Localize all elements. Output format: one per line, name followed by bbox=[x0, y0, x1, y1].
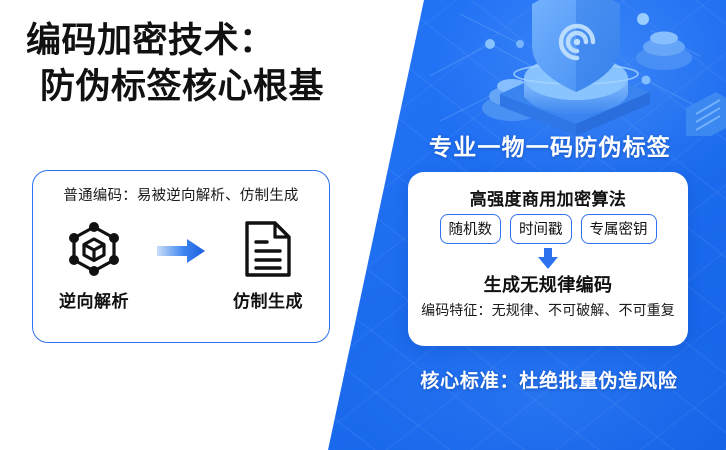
code-feature-line: 编码特征：无规律、不可破解、不可重复 bbox=[408, 300, 688, 320]
counterfeit-generation-item: 仿制生成 bbox=[212, 215, 324, 312]
isometric-shield-fingerprint-platform-icon bbox=[400, 0, 726, 136]
reverse-analysis-item: 逆向解析 bbox=[38, 215, 150, 312]
right-panel-title: 专业一物一码防伪标签 bbox=[400, 128, 700, 162]
generated-code-result: 生成无规律编码 bbox=[408, 271, 688, 297]
poster-canvas: 编码加密技术： 防伪标签核心根基 普通编码：易被逆向解析、仿制生成 bbox=[0, 0, 726, 450]
chip-random-number[interactable]: 随机数 bbox=[440, 214, 502, 244]
encryption-algorithm-card-title: 高强度商用加密算法 bbox=[408, 185, 688, 210]
ordinary-code-card-title: 普通编码：易被逆向解析、仿制生成 bbox=[33, 184, 329, 205]
page-title: 编码加密技术： 防伪标签核心根基 bbox=[26, 18, 406, 110]
encryption-algorithm-card: 高强度商用加密算法 随机数 时间戳 专属密钥 生成无规律编码 编码特征：无规律、… bbox=[408, 172, 688, 346]
hexagon-network-cube-icon bbox=[63, 215, 125, 283]
arrow-down-icon bbox=[408, 248, 688, 270]
reverse-analysis-label: 逆向解析 bbox=[59, 287, 129, 312]
arrow-right-gradient-icon bbox=[150, 238, 212, 290]
chip-exclusive-key[interactable]: 专属密钥 bbox=[581, 214, 657, 244]
headline-line-2: 防伪标签核心根基 bbox=[26, 64, 406, 110]
encryption-factor-chips: 随机数 时间戳 专属密钥 bbox=[416, 214, 680, 244]
counterfeit-generation-label: 仿制生成 bbox=[233, 287, 303, 312]
document-lines-icon bbox=[240, 215, 296, 283]
chip-timestamp[interactable]: 时间戳 bbox=[510, 214, 572, 244]
headline-line-1: 编码加密技术： bbox=[26, 18, 406, 64]
ordinary-code-card: 普通编码：易被逆向解析、仿制生成 bbox=[32, 170, 330, 343]
bottom-slogan: 核心标准：杜绝批量伪造风险 bbox=[398, 366, 700, 393]
ordinary-code-icon-row: 逆向解析 bbox=[33, 215, 329, 312]
